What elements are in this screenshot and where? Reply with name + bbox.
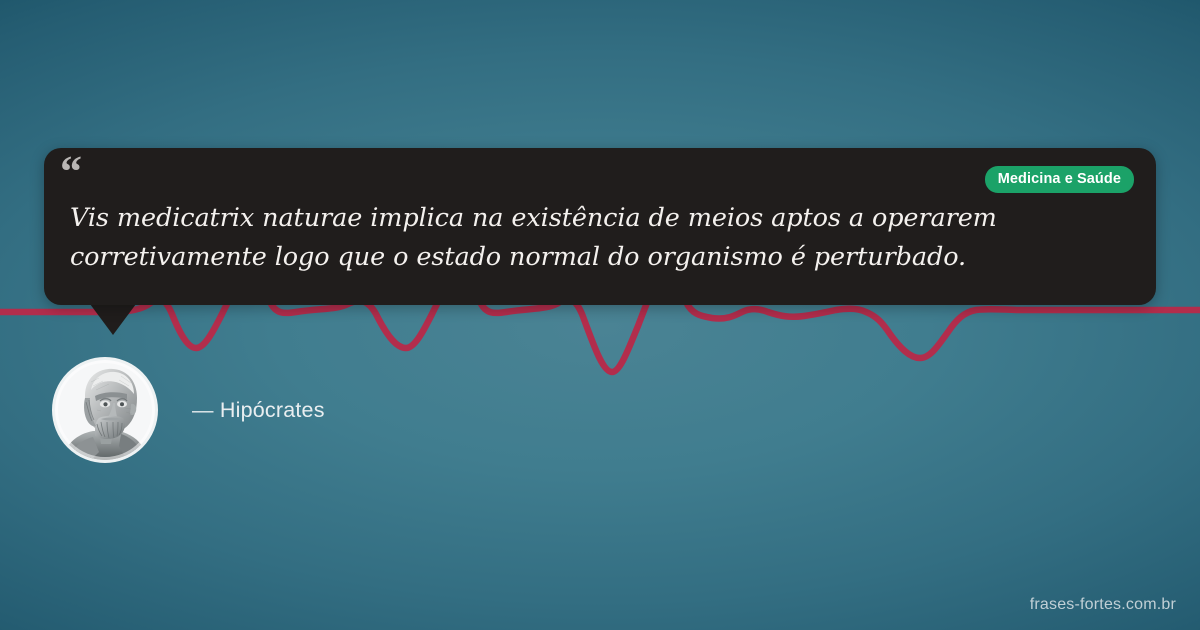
avatar-portrait-icon	[55, 360, 155, 460]
category-badge[interactable]: Medicina e Saúde	[985, 166, 1134, 193]
author-name: — Hipócrates	[192, 398, 325, 423]
avatar	[52, 357, 158, 463]
quote-text: Vis medicatrix naturae implica na existê…	[70, 199, 1080, 277]
quote-open-icon: “	[60, 150, 83, 194]
author-row: — Hipócrates	[52, 357, 325, 463]
site-footer[interactable]: frases-fortes.com.br	[1030, 596, 1176, 614]
card-tail	[90, 304, 136, 335]
quote-card-page: Medicina e Saúde “ Vis medicatrix natura…	[0, 0, 1200, 630]
